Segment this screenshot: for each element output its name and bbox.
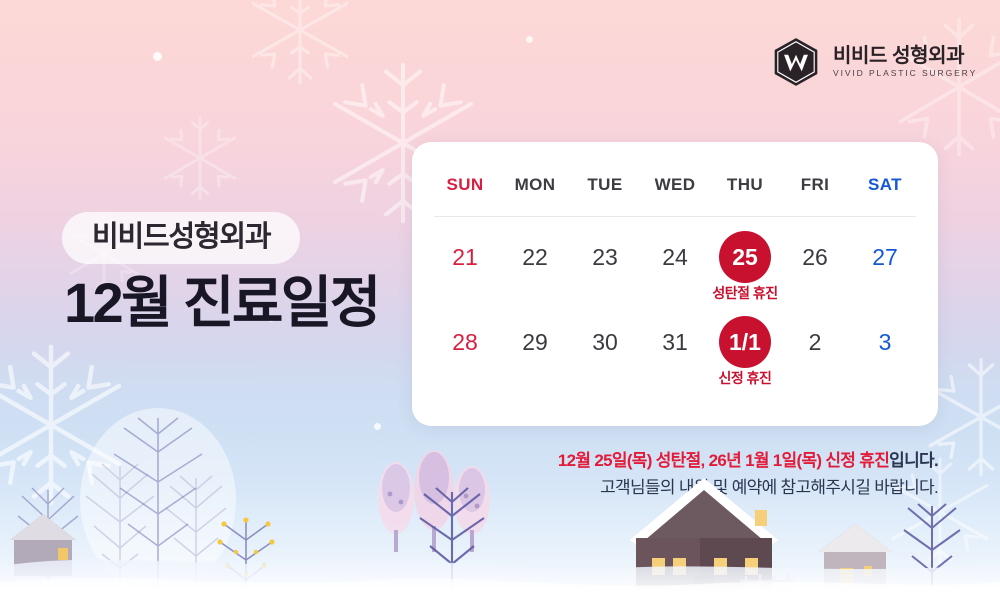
calendar-weekday-cell: THU (710, 176, 780, 193)
calendar-weekday-cell: FRI (780, 176, 850, 193)
day-number: 22 (509, 231, 561, 283)
calendar-divider (434, 216, 916, 217)
day-number: 29 (509, 316, 561, 368)
day-number: 31 (649, 316, 701, 368)
clinic-name-badge: 비비드성형외과 (62, 212, 300, 264)
day-holiday-note: 성탄절 휴진 (712, 286, 777, 302)
day-number: 25 (719, 231, 771, 283)
day-number: 3 (859, 316, 911, 368)
day-number: 23 (579, 231, 631, 283)
day-number: 26 (789, 231, 841, 283)
calendar-day-cell[interactable]: 22 (500, 231, 570, 302)
day-number: 28 (439, 316, 491, 368)
snow-dot-icon (526, 36, 533, 43)
hexagon-vivid-logo-icon (770, 36, 822, 88)
page-title: 12월 진료일정 (64, 272, 379, 334)
day-number: 1/1 (719, 316, 771, 368)
weekday-label-sat: SAT (868, 176, 902, 193)
calendar-weekday-cell: WED (640, 176, 710, 193)
calendar-day-cell[interactable]: 23 (570, 231, 640, 302)
headline-block: 비비드성형외과 12월 진료일정 (62, 212, 379, 334)
calendar-day-cell-holiday[interactable]: 25성탄절 휴진 (710, 231, 780, 302)
snowflake-icon (240, 0, 360, 90)
brand-subtitle: VIVID PLASTIC SURGERY (833, 69, 977, 78)
calendar-weekday-cell: MON (500, 176, 570, 193)
brand-name: 비비드 성형외과 (833, 46, 977, 66)
calendar-week-row: 2122232425성탄절 휴진2627 (430, 231, 920, 302)
calendar-weeks: 2122232425성탄절 휴진2627282930311/1신정 휴진23 (430, 231, 920, 387)
weekday-label-fri: FRI (801, 176, 830, 193)
day-number: 30 (579, 316, 631, 368)
weekday-label-mon: MON (515, 176, 556, 193)
calendar-day-cell[interactable]: 24 (640, 231, 710, 302)
day-number: 21 (439, 231, 491, 283)
brand-logo: 비비드 성형외과 VIVID PLASTIC SURGERY (770, 36, 977, 88)
weekday-label-wed: WED (655, 176, 696, 193)
weekday-label-thu: THU (727, 176, 763, 193)
calendar-weekday-cell: TUE (570, 176, 640, 193)
calendar-day-cell[interactable]: 27 (850, 231, 920, 302)
snowflake-icon (152, 110, 248, 206)
calendar-weekday-cell: SAT (850, 176, 920, 193)
calendar-day-cell[interactable]: 26 (780, 231, 850, 302)
calendar-day-cell[interactable]: 21 (430, 231, 500, 302)
weekday-label-sun: SUN (446, 176, 483, 193)
winter-village-scene (0, 370, 1000, 600)
day-number: 2 (789, 316, 841, 368)
day-number: 27 (859, 231, 911, 283)
snow-dot-icon (153, 52, 162, 61)
weekday-label-tue: TUE (587, 176, 622, 193)
holiday-schedule-banner: 비비드 성형외과 VIVID PLASTIC SURGERY 비비드성형외과 1… (0, 0, 1000, 600)
day-number: 24 (649, 231, 701, 283)
calendar-weekday-cell: SUN (430, 176, 500, 193)
calendar-weekday-header: SUNMONTUEWEDTHUFRISAT (430, 176, 920, 193)
